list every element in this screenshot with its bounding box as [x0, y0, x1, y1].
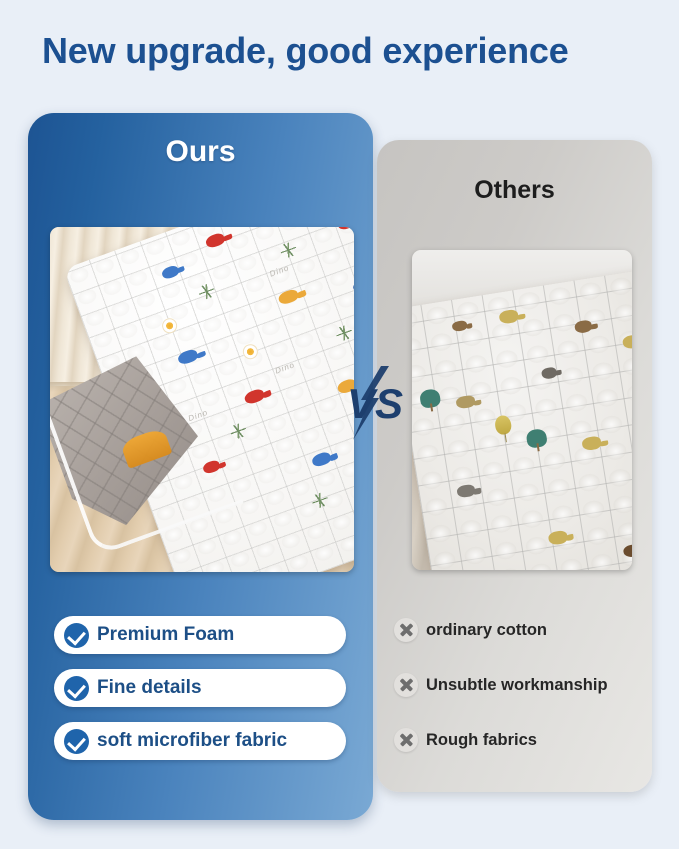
- ours-feature-label: soft microfiber fabric: [97, 730, 287, 752]
- x-icon: [394, 618, 418, 642]
- ours-feature-label: Premium Foam: [97, 624, 234, 646]
- others-mattress-pad: [412, 268, 632, 570]
- ours-product-photo: Dino Dino Dino: [50, 227, 354, 572]
- page-title: New upgrade, good experience: [42, 30, 642, 72]
- check-icon: [64, 676, 89, 701]
- others-product-photo: [412, 250, 632, 570]
- check-icon: [64, 729, 89, 754]
- ours-feature-2: Fine details: [54, 669, 346, 707]
- x-icon: [394, 673, 418, 697]
- others-feature-3: Rough fabrics: [394, 728, 537, 752]
- others-feature-label: ordinary cotton: [426, 621, 547, 640]
- ours-feature-label: Fine details: [97, 677, 202, 699]
- others-feature-1: ordinary cotton: [394, 618, 547, 642]
- others-feature-2: Unsubtle workmanship: [394, 673, 608, 697]
- others-feature-label: Rough fabrics: [426, 731, 537, 750]
- others-feature-label: Unsubtle workmanship: [426, 676, 608, 695]
- ours-feature-1: Premium Foam: [54, 616, 346, 654]
- vs-badge: VS: [339, 366, 411, 440]
- check-icon: [64, 623, 89, 648]
- comparison-infographic: New upgrade, good experience Ours: [0, 0, 679, 849]
- vs-label: VS: [347, 380, 403, 427]
- ours-heading: Ours: [28, 135, 373, 169]
- ours-feature-3: soft microfiber fabric: [54, 722, 346, 760]
- x-icon: [394, 728, 418, 752]
- others-heading: Others: [377, 176, 652, 205]
